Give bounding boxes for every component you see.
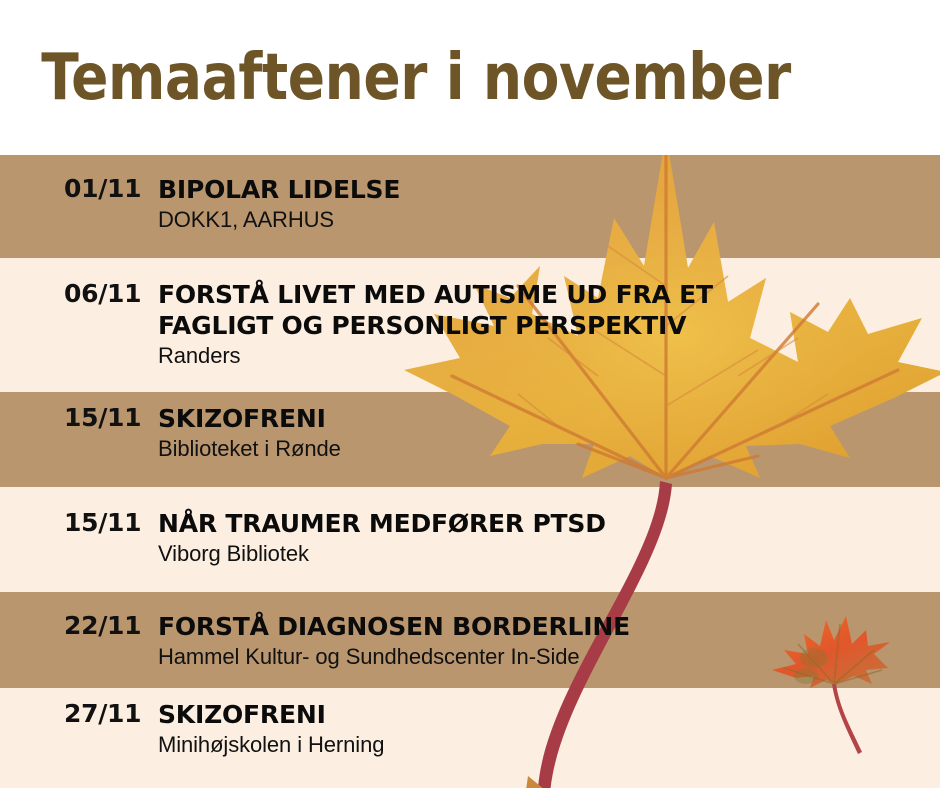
event-body: FORSTÅ LIVET MED AUTISME UD FRA ET FAGLI…: [158, 279, 940, 370]
event-title: FORSTÅ LIVET MED AUTISME UD FRA ET FAGLI…: [158, 279, 940, 341]
event-venue: DOKK1, AARHUS: [158, 206, 940, 234]
poster: Temaaftener i november 01/11 BIPOLAR LID…: [0, 0, 940, 788]
event-body: NÅR TRAUMER MEDFØRER PTSD Viborg Bibliot…: [158, 508, 940, 568]
event-venue: Viborg Bibliotek: [158, 540, 940, 568]
event-date: 06/11: [0, 279, 158, 309]
event-venue: Randers: [158, 342, 940, 370]
event-row[interactable]: 15/11 SKIZOFRENI Biblioteket i Rønde: [0, 403, 940, 463]
event-row[interactable]: 22/11 FORSTÅ DIAGNOSEN BORDERLINE Hammel…: [0, 611, 940, 671]
title-bar: Temaaftener i november: [0, 0, 940, 155]
event-venue: Minihøjskolen i Herning: [158, 731, 940, 759]
event-date: 27/11: [0, 699, 158, 729]
page-title: Temaaftener i november: [0, 46, 791, 110]
event-title: SKIZOFRENI: [158, 403, 940, 434]
event-row[interactable]: 15/11 NÅR TRAUMER MEDFØRER PTSD Viborg B…: [0, 508, 940, 568]
event-title: FORSTÅ DIAGNOSEN BORDERLINE: [158, 611, 940, 642]
event-row[interactable]: 06/11 FORSTÅ LIVET MED AUTISME UD FRA ET…: [0, 279, 940, 370]
event-body: SKIZOFRENI Biblioteket i Rønde: [158, 403, 940, 463]
event-body: SKIZOFRENI Minihøjskolen i Herning: [158, 699, 940, 759]
event-row[interactable]: 01/11 BIPOLAR LIDELSE DOKK1, AARHUS: [0, 174, 940, 234]
event-date: 15/11: [0, 508, 158, 538]
event-title: SKIZOFRENI: [158, 699, 940, 730]
event-title: NÅR TRAUMER MEDFØRER PTSD: [158, 508, 940, 539]
event-date: 15/11: [0, 403, 158, 433]
event-body: FORSTÅ DIAGNOSEN BORDERLINE Hammel Kultu…: [158, 611, 940, 671]
event-venue: Hammel Kultur- og Sundhedscenter In-Side: [158, 643, 940, 671]
event-row[interactable]: 27/11 SKIZOFRENI Minihøjskolen i Herning: [0, 699, 940, 759]
event-venue: Biblioteket i Rønde: [158, 435, 940, 463]
event-date: 22/11: [0, 611, 158, 641]
event-title: BIPOLAR LIDELSE: [158, 174, 940, 205]
event-date: 01/11: [0, 174, 158, 204]
event-body: BIPOLAR LIDELSE DOKK1, AARHUS: [158, 174, 940, 234]
